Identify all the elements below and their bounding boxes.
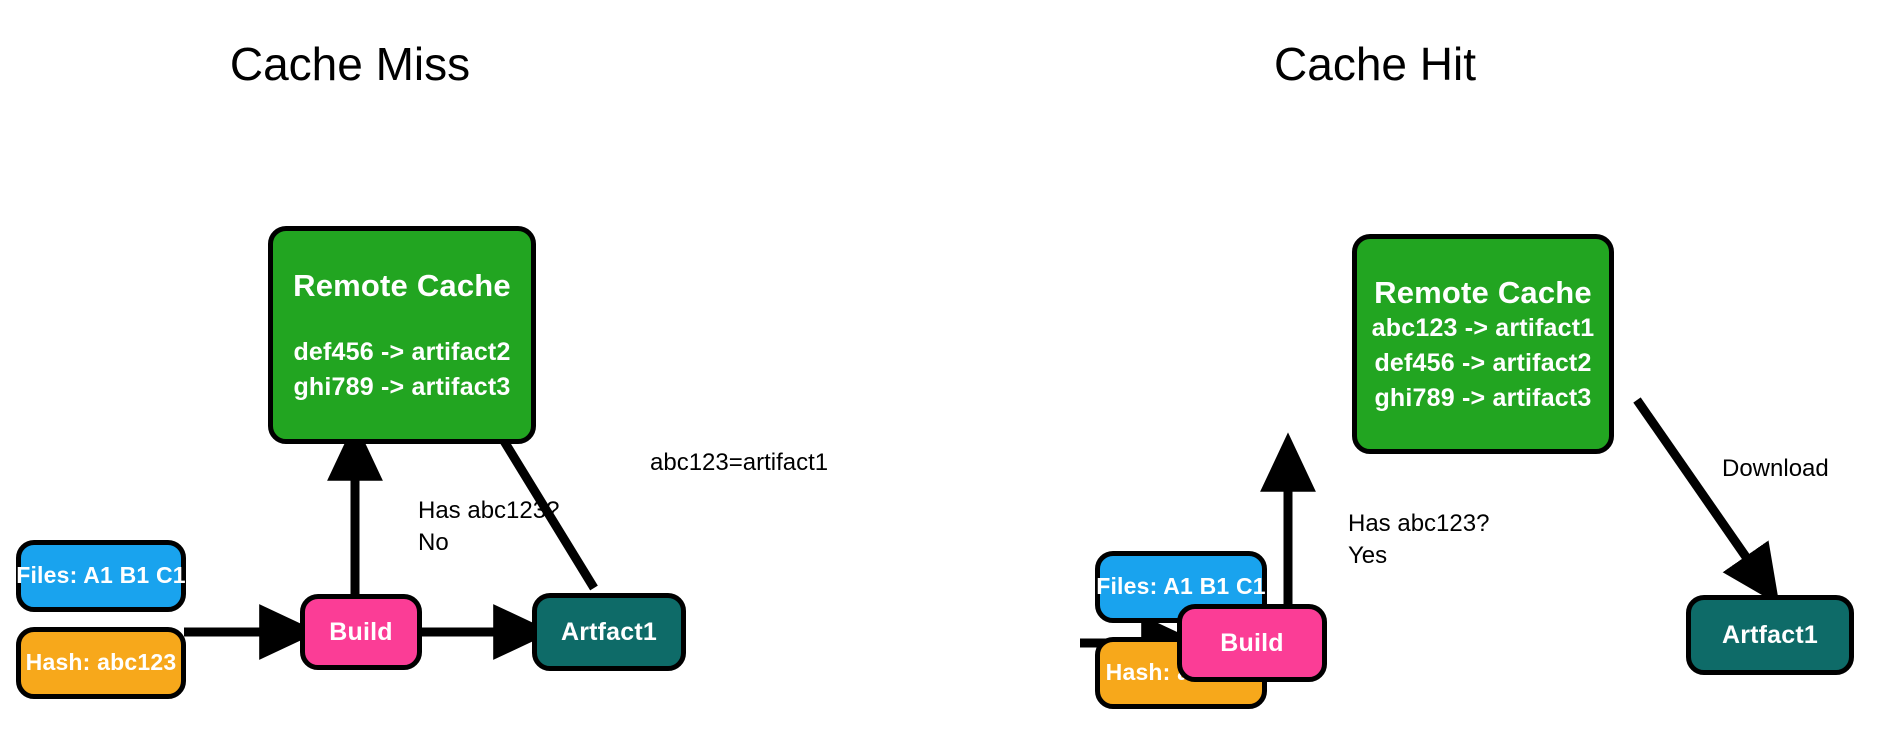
remote-cache-title-miss: Remote Cache (293, 269, 511, 304)
edge-label-query-miss: Has abc123? No (418, 495, 559, 559)
hash-box-miss[interactable]: Hash: abc123 (16, 627, 186, 699)
remote-cache-box-hit[interactable]: Remote Cache abc123 -> artifact1 def456 … (1352, 234, 1614, 454)
remote-cache-entries-hit: abc123 -> artifact1 def456 -> artifact2 … (1372, 314, 1595, 412)
hash-label: Hash: abc123 (26, 650, 177, 676)
artifact-label: Artfact1 (1722, 621, 1818, 649)
artifact-label: Artfact1 (561, 618, 657, 646)
arrow-cache-to-artifact-right (1637, 400, 1762, 580)
edge-label-download-hit: Download (1722, 453, 1829, 485)
remote-cache-entries-miss: def456 -> artifact2 ghi789 -> artifact3 (293, 338, 510, 401)
files-label: Files: A1 B1 C1 (16, 563, 186, 589)
files-label: Files: A1 B1 C1 (1096, 574, 1266, 600)
remote-cache-entry: ghi789 -> artifact3 (293, 373, 510, 401)
artifact-box-hit[interactable]: Artfact1 (1686, 595, 1854, 675)
panel-title-cache-hit: Cache Hit (1175, 37, 1575, 91)
panel-title-cache-miss: Cache Miss (150, 37, 550, 91)
build-box-miss[interactable]: Build (300, 594, 422, 670)
edge-label-upload-miss: abc123=artifact1 (650, 447, 828, 479)
build-box-hit[interactable]: Build (1177, 604, 1327, 682)
edge-label-query-hit: Has abc123? Yes (1348, 508, 1489, 572)
remote-cache-entry: ghi789 -> artifact3 (1374, 384, 1591, 412)
files-box-miss[interactable]: Files: A1 B1 C1 (16, 540, 186, 612)
artifact-box-miss[interactable]: Artfact1 (532, 593, 686, 671)
remote-cache-entry: def456 -> artifact2 (1374, 349, 1591, 377)
diagram-canvas: Cache Miss Remote Cache def456 -> artifa… (0, 0, 1894, 746)
remote-cache-entry: def456 -> artifact2 (293, 338, 510, 366)
build-label: Build (1220, 629, 1284, 657)
remote-cache-title-hit: Remote Cache (1374, 276, 1592, 311)
remote-cache-box-miss[interactable]: Remote Cache def456 -> artifact2 ghi789 … (268, 226, 536, 444)
remote-cache-entry: abc123 -> artifact1 (1372, 314, 1595, 342)
build-label: Build (329, 618, 393, 646)
